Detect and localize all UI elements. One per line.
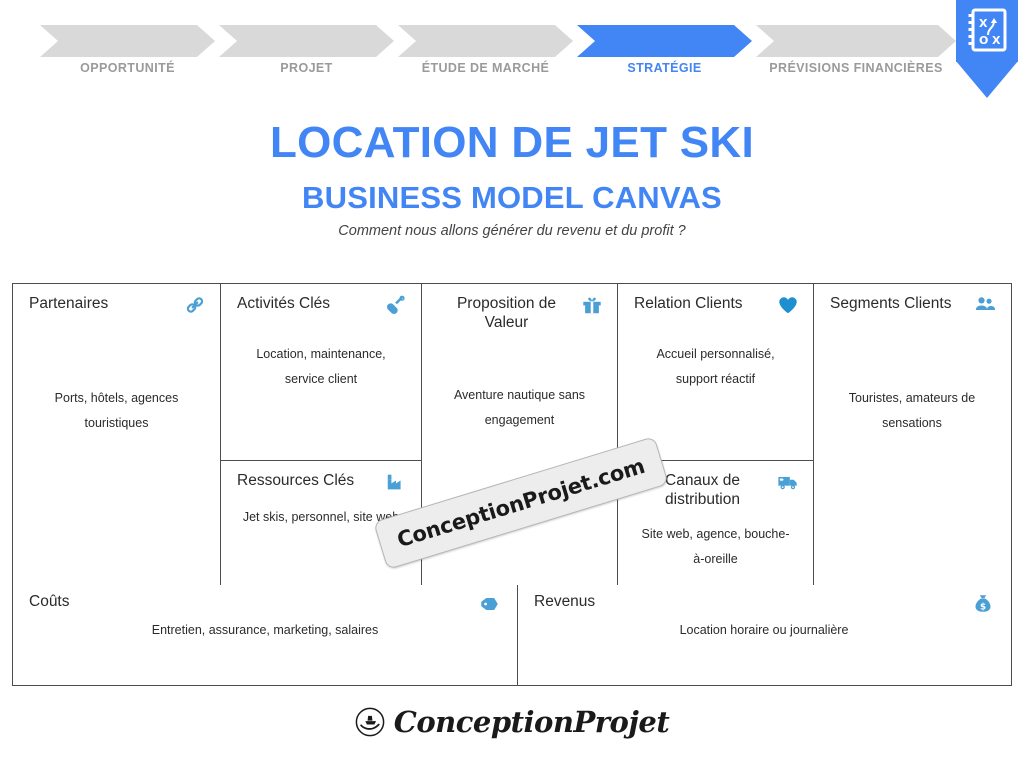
footer-brand-text: ConceptionProjet <box>394 705 670 739</box>
cell-header-activites: Activités Clés <box>221 284 421 316</box>
cell-body-revenus: Location horaire ou journalière <box>518 615 1010 637</box>
stepper-label-strategie[interactable]: STRATÉGIE <box>577 58 752 75</box>
gift-icon <box>581 294 603 316</box>
stepper-label-projet[interactable]: PROJET <box>219 58 394 75</box>
svg-text:X: X <box>979 17 988 30</box>
cell-title-partenaires: Partenaires <box>29 294 108 313</box>
factory-icon <box>385 471 407 493</box>
cell-body-proposition: Aventure nautique sans engagement <box>422 333 617 433</box>
cell-title-segments: Segments Clients <box>830 294 951 313</box>
cell-header-segments: Segments Clients <box>814 284 1010 316</box>
canvas-bottom-row: Coûts Entretien, assurance, marketing, s… <box>13 585 1011 685</box>
cell-body-activites: Location, maintenance, service client <box>221 316 421 392</box>
canvas-cell-activites[interactable]: Activités Clés Location, maintenance, se… <box>221 284 421 461</box>
cell-body-couts: Entretien, assurance, marketing, salaire… <box>13 615 517 637</box>
conception-projet-logo-icon <box>355 707 385 737</box>
canvas-cell-couts[interactable]: Coûts Entretien, assurance, marketing, s… <box>13 585 518 685</box>
page-title: LOCATION DE JET SKI <box>0 120 1024 166</box>
price-tag-icon <box>479 593 501 615</box>
page-subtitle: BUSINESS MODEL CANVAS <box>0 180 1024 216</box>
cell-title-relation: Relation Clients <box>634 294 743 313</box>
title-block: LOCATION DE JET SKI BUSINESS MODEL CANVA… <box>0 120 1024 239</box>
stepper-chevron-projet[interactable] <box>219 25 394 57</box>
stepper-label-etude-de-marche[interactable]: ÉTUDE DE MARCHÉ <box>398 58 573 75</box>
svg-text:O: O <box>979 34 988 47</box>
progress-stepper: OPPORTUNITÉ PROJET ÉTUDE DE MARCHÉ STRAT… <box>0 0 1024 100</box>
footer-brand: ConceptionProjet <box>0 705 1024 739</box>
cell-body-canaux: Site web, agence, bouche-à-oreille <box>618 510 813 572</box>
cell-title-revenus: Revenus <box>534 593 595 611</box>
cell-header-relation: Relation Clients <box>618 284 813 316</box>
pin-tip <box>956 61 1018 98</box>
cell-body-relation: Accueil personnalisé, support réactif <box>618 316 813 392</box>
money-bag-icon: $ <box>972 593 994 615</box>
delivery-truck-icon <box>777 471 799 493</box>
strategy-pin-marker: X O X <box>956 0 1018 98</box>
canvas-cell-revenus[interactable]: Revenus $ Location horaire ou journalièr… <box>518 585 1010 685</box>
stepper-chevrons <box>40 25 960 57</box>
cell-body-segments: Touristes, amateurs de sensations <box>814 316 1010 436</box>
link-chain-icon <box>184 294 206 316</box>
cell-header-partenaires: Partenaires <box>13 284 220 316</box>
cell-title-couts: Coûts <box>29 593 70 611</box>
cell-title-proposition: Proposition de Valeur <box>438 294 575 333</box>
cell-header-ressources: Ressources Clés <box>221 461 421 493</box>
users-group-icon <box>974 294 996 316</box>
cell-header-couts: Coûts <box>13 585 517 615</box>
stepper-chevron-strategie[interactable] <box>577 25 752 57</box>
stepper-label-opportunite[interactable]: OPPORTUNITÉ <box>40 58 215 75</box>
cell-header-revenus: Revenus $ <box>518 585 1010 615</box>
canvas-column-relation-canaux: Relation Clients Accueil personnalisé, s… <box>618 284 814 585</box>
canvas-cell-segments-clients[interactable]: Segments Clients Touristes, amateurs de … <box>814 284 1010 585</box>
shovel-icon <box>385 294 407 316</box>
stepper-label-previsions-financieres[interactable]: PRÉVISIONS FINANCIÈRES <box>756 58 956 75</box>
stepper-labels: OPPORTUNITÉ PROJET ÉTUDE DE MARCHÉ STRAT… <box>40 58 960 75</box>
canvas-cell-relation-clients[interactable]: Relation Clients Accueil personnalisé, s… <box>618 284 813 461</box>
stepper-chevron-opportunite[interactable] <box>40 25 215 57</box>
canvas-cell-partenaires[interactable]: Partenaires Ports, hôtels, agences touri… <box>13 284 221 585</box>
heart-icon <box>777 294 799 316</box>
svg-text:$: $ <box>980 603 986 613</box>
stepper-chevron-etude-de-marche[interactable] <box>398 25 573 57</box>
cell-title-activites: Activités Clés <box>237 294 330 313</box>
svg-text:X: X <box>992 34 1001 47</box>
cell-title-ressources: Ressources Clés <box>237 471 354 490</box>
strategy-playbook-icon: X O X <box>967 8 1007 52</box>
stepper-chevron-previsions-financieres[interactable] <box>756 25 956 57</box>
cell-body-partenaires: Ports, hôtels, agences touristiques <box>13 316 220 436</box>
page-tagline: Comment nous allons générer du revenu et… <box>0 223 1024 239</box>
canvas-top-row: Partenaires Ports, hôtels, agences touri… <box>13 284 1011 585</box>
cell-header-proposition: Proposition de Valeur <box>422 284 617 333</box>
